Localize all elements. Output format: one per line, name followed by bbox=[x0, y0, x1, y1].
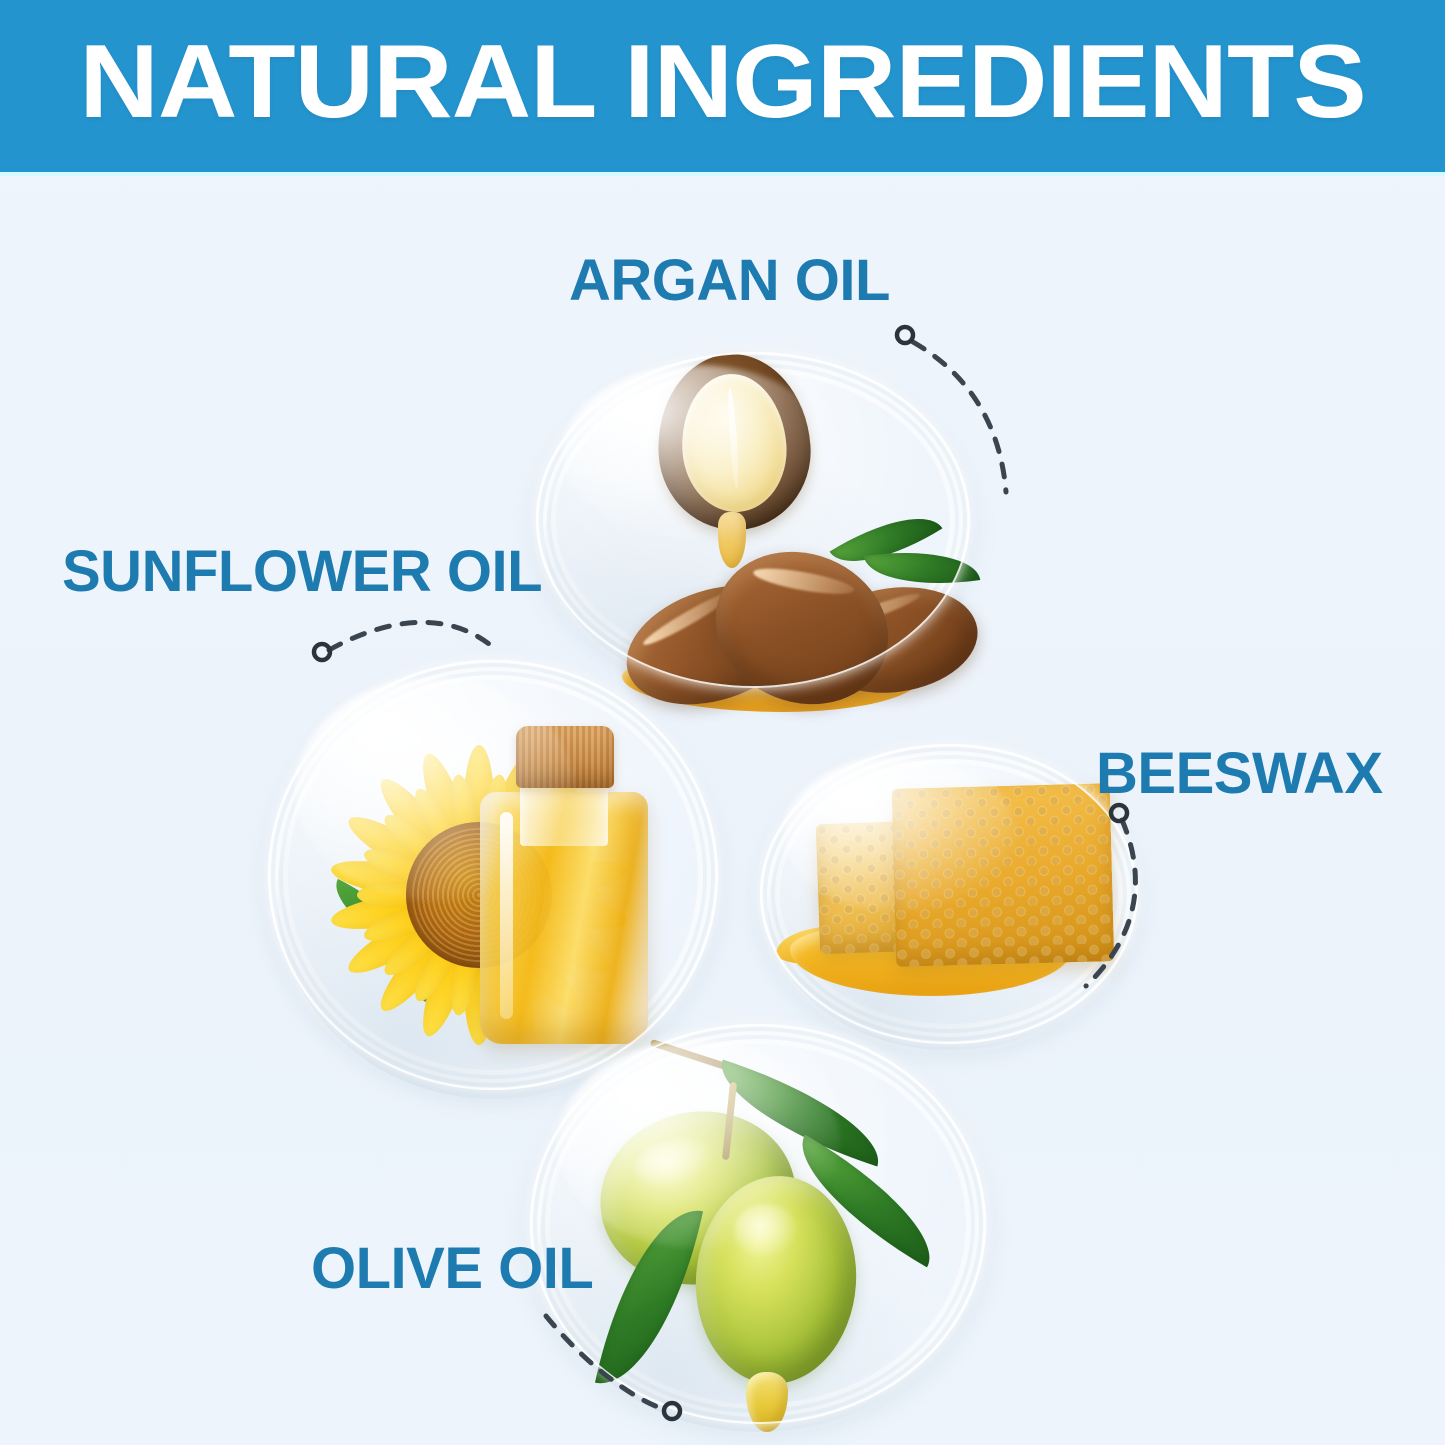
infographic-canvas: NATURAL INGREDIENTS bbox=[0, 0, 1445, 1445]
connector-endpoint-olive-oil bbox=[664, 1403, 680, 1419]
connector-endpoint-beeswax bbox=[1111, 805, 1127, 821]
connector-argan-oil bbox=[913, 342, 1006, 492]
ingredient-label-argan-oil: ARGAN OIL bbox=[569, 247, 890, 314]
connector-sunflower-oil bbox=[329, 622, 494, 650]
connector-lines bbox=[0, 0, 1445, 1445]
ingredient-label-sunflower-oil: SUNFLOWER OIL bbox=[62, 538, 542, 605]
ingredient-label-olive-oil: OLIVE OIL bbox=[311, 1235, 593, 1302]
ingredient-label-beeswax: BEESWAX bbox=[1096, 740, 1383, 807]
connector-endpoint-argan-oil bbox=[897, 327, 913, 343]
connector-olive-oil bbox=[546, 1316, 666, 1410]
connector-beeswax bbox=[1086, 820, 1135, 986]
